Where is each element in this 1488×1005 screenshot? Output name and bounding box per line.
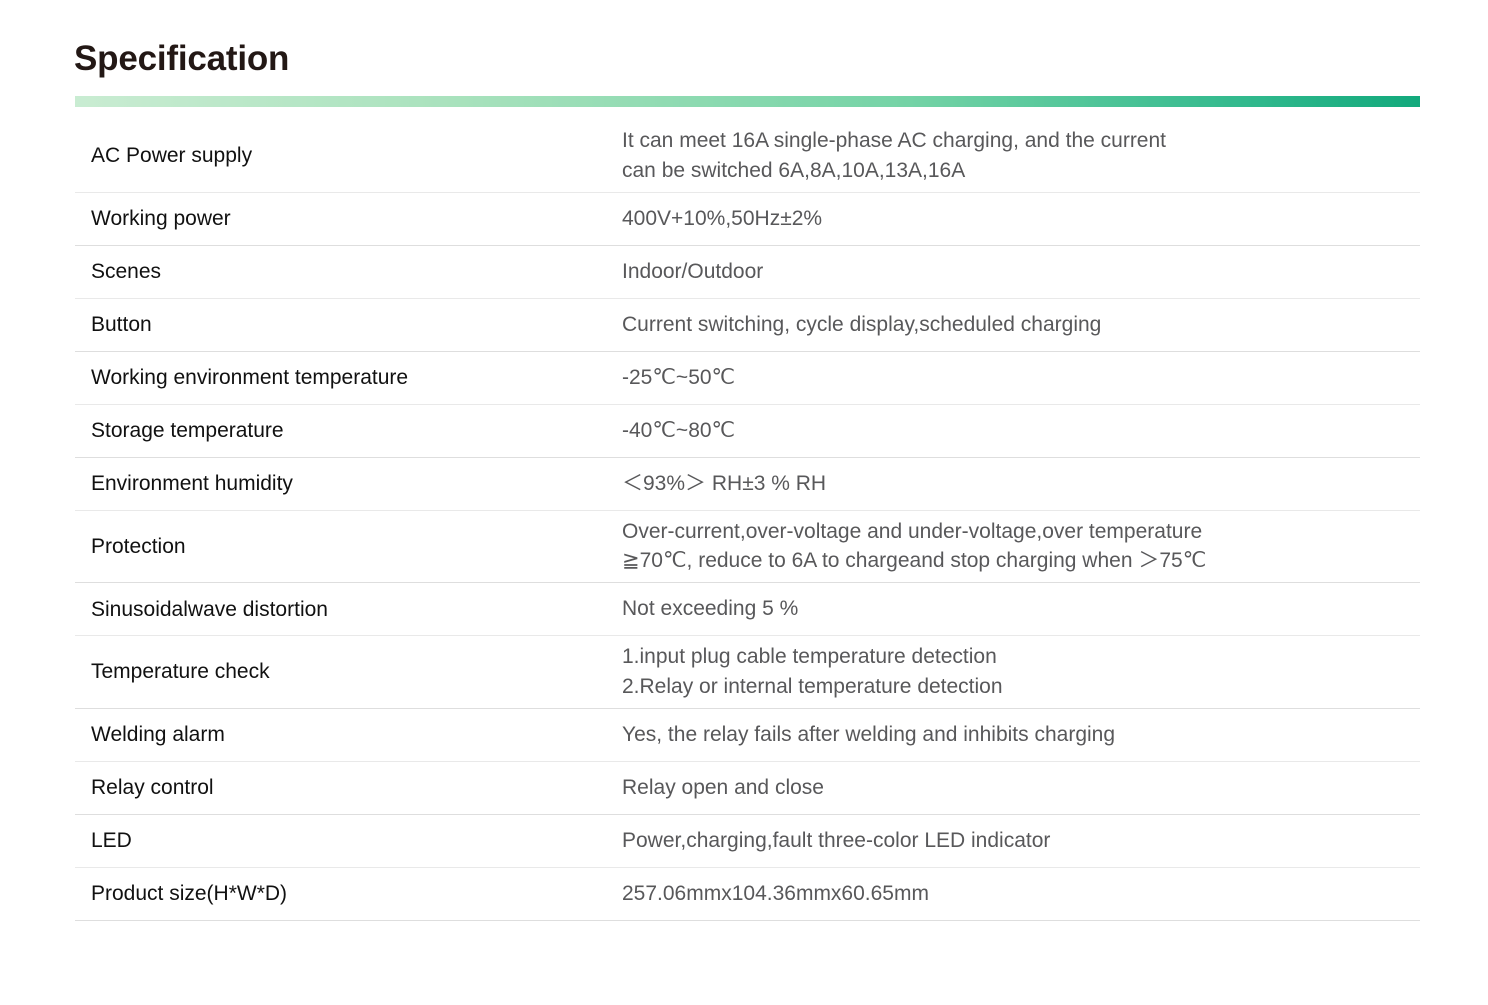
spec-value-line: 257.06mmx104.36mmx60.65mm	[622, 879, 1420, 909]
spec-value-cell: Current switching, cycle display,schedul…	[622, 298, 1420, 351]
table-row: Working environment temperature -25℃~50℃	[75, 351, 1420, 404]
spec-label: Product size(H*W*D)	[75, 872, 622, 916]
spec-value-line: ≧70℃, reduce to 6A to chargeand stop cha…	[622, 546, 1420, 576]
table-row: AC Power supply It can meet 16A single-p…	[75, 120, 1420, 192]
specification-table-body: AC Power supply It can meet 16A single-p…	[75, 120, 1420, 920]
spec-label-cell: Scenes	[75, 245, 622, 298]
spec-value-line: 1.input plug cable temperature detection	[622, 642, 1420, 672]
spec-value-line: Yes, the relay fails after welding and i…	[622, 720, 1420, 750]
spec-label-cell: Environment humidity	[75, 457, 622, 510]
spec-label-cell: Storage temperature	[75, 404, 622, 457]
spec-label-cell: Product size(H*W*D)	[75, 867, 622, 920]
spec-label: AC Power supply	[75, 134, 622, 178]
page-title: Specification	[74, 40, 289, 79]
spec-value-cell: ＜93%＞ RH±3 % RH	[622, 457, 1420, 510]
table-row: Working power 400V+10%,50Hz±2%	[75, 192, 1420, 245]
spec-value-cell: 400V+10%,50Hz±2%	[622, 192, 1420, 245]
spec-label: Scenes	[75, 250, 622, 294]
spec-label-cell: Relay control	[75, 761, 622, 814]
specification-table: AC Power supply It can meet 16A single-p…	[75, 120, 1420, 921]
spec-value-cell: -40℃~80℃	[622, 404, 1420, 457]
table-row: Protection Over-current,over-voltage and…	[75, 510, 1420, 583]
spec-label-cell: Temperature check	[75, 636, 622, 709]
table-row: Button Current switching, cycle display,…	[75, 298, 1420, 351]
spec-label: Storage temperature	[75, 409, 622, 453]
spec-label: Working environment temperature	[75, 356, 622, 400]
spec-label: Protection	[75, 525, 622, 569]
spec-label-cell: Sinusoidalwave distortion	[75, 583, 622, 636]
table-row: Sinusoidalwave distortion Not exceeding …	[75, 583, 1420, 636]
spec-value-cell: -25℃~50℃	[622, 351, 1420, 404]
spec-value: 400V+10%,50Hz±2%	[622, 198, 1420, 240]
spec-value-line: ＜93%＞ RH±3 % RH	[622, 469, 1420, 499]
table-row: LED Power,charging,fault three-color LED…	[75, 814, 1420, 867]
table-row: Scenes Indoor/Outdoor	[75, 245, 1420, 298]
spec-label-cell: Button	[75, 298, 622, 351]
spec-value-line: Current switching, cycle display,schedul…	[622, 310, 1420, 340]
spec-label: Button	[75, 303, 622, 347]
spec-value: Power,charging,fault three-color LED ind…	[622, 820, 1420, 862]
spec-value-line: 2.Relay or internal temperature detectio…	[622, 672, 1420, 702]
spec-label: Sinusoidalwave distortion	[75, 588, 622, 632]
spec-label-cell: AC Power supply	[75, 120, 622, 192]
spec-label: Relay control	[75, 766, 622, 810]
spec-label: Working power	[75, 197, 622, 241]
spec-value: Over-current,over-voltage and under-volt…	[622, 511, 1420, 583]
spec-label: LED	[75, 819, 622, 863]
spec-value: Indoor/Outdoor	[622, 251, 1420, 293]
spec-value-line: It can meet 16A single-phase AC charging…	[622, 126, 1420, 156]
spec-label-cell: Welding alarm	[75, 708, 622, 761]
spec-label-cell: Protection	[75, 510, 622, 583]
accent-gradient-bar	[75, 96, 1420, 107]
spec-value-line: Relay open and close	[622, 773, 1420, 803]
spec-value: It can meet 16A single-phase AC charging…	[622, 120, 1420, 192]
spec-label-cell: Working environment temperature	[75, 351, 622, 404]
spec-value-cell: Relay open and close	[622, 761, 1420, 814]
spec-value-cell: Over-current,over-voltage and under-volt…	[622, 510, 1420, 583]
spec-value: -40℃~80℃	[622, 410, 1420, 452]
table-row: Relay control Relay open and close	[75, 761, 1420, 814]
spec-label-cell: Working power	[75, 192, 622, 245]
spec-value: Not exceeding 5 %	[622, 588, 1420, 630]
spec-value-line: Not exceeding 5 %	[622, 594, 1420, 624]
spec-label: Welding alarm	[75, 713, 622, 757]
spec-value: 257.06mmx104.36mmx60.65mm	[622, 873, 1420, 915]
spec-value-cell: 1.input plug cable temperature detection…	[622, 636, 1420, 709]
table-row: Storage temperature -40℃~80℃	[75, 404, 1420, 457]
spec-value-cell: Yes, the relay fails after welding and i…	[622, 708, 1420, 761]
spec-value-cell: It can meet 16A single-phase AC charging…	[622, 120, 1420, 192]
spec-value-cell: Power,charging,fault three-color LED ind…	[622, 814, 1420, 867]
spec-label-cell: LED	[75, 814, 622, 867]
spec-value: Yes, the relay fails after welding and i…	[622, 714, 1420, 756]
spec-value-cell: Not exceeding 5 %	[622, 583, 1420, 636]
spec-value-cell: 257.06mmx104.36mmx60.65mm	[622, 867, 1420, 920]
spec-value-line: -40℃~80℃	[622, 416, 1420, 446]
spec-value: -25℃~50℃	[622, 357, 1420, 399]
spec-value-cell: Indoor/Outdoor	[622, 245, 1420, 298]
specification-page: Specification AC Power supply It can mee…	[0, 0, 1488, 1005]
table-row: Welding alarm Yes, the relay fails after…	[75, 708, 1420, 761]
table-row: Environment humidity ＜93%＞ RH±3 % RH	[75, 457, 1420, 510]
spec-value-line: Over-current,over-voltage and under-volt…	[622, 517, 1420, 547]
spec-value-line: Power,charging,fault three-color LED ind…	[622, 826, 1420, 856]
spec-value: 1.input plug cable temperature detection…	[622, 636, 1420, 708]
table-row: Product size(H*W*D) 257.06mmx104.36mmx60…	[75, 867, 1420, 920]
spec-value-line: can be switched 6A,8A,10A,13A,16A	[622, 156, 1420, 186]
table-row: Temperature check 1.input plug cable tem…	[75, 636, 1420, 709]
spec-value-line: 400V+10%,50Hz±2%	[622, 204, 1420, 234]
spec-value: ＜93%＞ RH±3 % RH	[622, 463, 1420, 505]
spec-value: Relay open and close	[622, 767, 1420, 809]
spec-label: Environment humidity	[75, 462, 622, 506]
spec-value-line: -25℃~50℃	[622, 363, 1420, 393]
spec-value-line: Indoor/Outdoor	[622, 257, 1420, 287]
spec-value: Current switching, cycle display,schedul…	[622, 304, 1420, 346]
spec-label: Temperature check	[75, 650, 622, 694]
